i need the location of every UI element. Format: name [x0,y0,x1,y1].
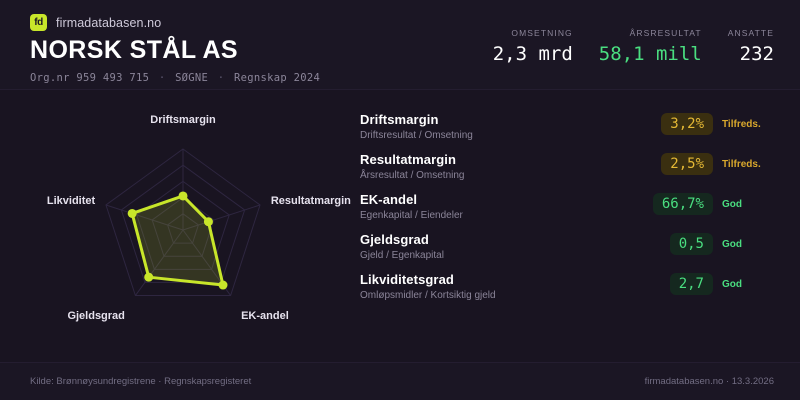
stat-arsresultat-value: 58,1 mill [599,43,702,65]
stat-ansatte: ANSATTE 232 [728,28,774,65]
metric-value-badge: 2,7 [670,273,713,295]
radar-chart: Driftsmargin Resultatmargin EK-andel Gje… [0,90,360,362]
metric-name: Driftsmargin [360,112,661,127]
status-badge: Tilfreds. [722,159,776,170]
body: Driftsmargin Resultatmargin EK-andel Gje… [0,90,800,362]
radar-axis-label-resultatmargin: Resultatmargin [271,195,351,207]
metrics-list: Driftsmargin Driftsresultat / Omsetning … [360,90,800,362]
radar-axis-label-gjeldsgrad: Gjeldsgrad [67,310,124,322]
metric-value-badge: 3,2% [661,113,713,135]
metric-name: Resultatmargin [360,152,661,167]
stat-omsetning: OMSETNING 2,3 mrd [493,28,573,65]
stat-ansatte-value: 232 [728,43,774,65]
company-place: SØGNE [175,72,208,84]
metric-row-gjeldsgrad: Gjeldsgrad Gjeld / Egenkapital 0,5 God [360,232,776,272]
metric-right: 66,7% God [653,193,776,215]
status-badge: God [722,279,776,290]
radar-axis-label-ek-andel: EK-andel [241,310,289,322]
stat-ansatte-label: ANSATTE [728,28,774,38]
metric-formula: Omløpsmidler / Kortsiktig gjeld [360,290,670,301]
radar-axis-label-driftsmargin: Driftsmargin [150,114,215,126]
status-badge: Tilfreds. [722,119,776,130]
org-number: Org.nr 959 493 715 [30,72,149,84]
radar-axis-label-likviditet: Likviditet [47,195,95,207]
company-summary-card: fd firmadatabasen.no NORSK STÅL AS Org.n… [0,0,800,400]
footer-source: Kilde: Brønnøysundregistrene · Regnskaps… [30,376,251,387]
status-badge: God [722,199,776,210]
metric-right: 2,7 God [670,273,776,295]
brand-row[interactable]: fd firmadatabasen.no [30,14,320,31]
metric-row-ek-andel: EK-andel Egenkapital / Eiendeler 66,7% G… [360,192,776,232]
stat-arsresultat-label: ÅRSRESULTAT [599,28,702,38]
metric-right: 2,5% Tilfreds. [661,153,776,175]
metric-value-badge: 0,5 [670,233,713,255]
footer: Kilde: Brønnøysundregistrene · Regnskaps… [0,362,800,400]
meta-separator-2: · [215,72,228,84]
metric-text: Resultatmargin Årsresultat / Omsetning [360,152,661,181]
accounting-year: Regnskap 2024 [234,72,320,84]
metric-formula: Årsresultat / Omsetning [360,170,661,181]
firmadatabasen-logo-icon: fd [30,14,47,31]
metric-formula: Driftsresultat / Omsetning [360,130,661,141]
metric-formula: Egenkapital / Eiendeler [360,210,653,221]
header-stats: OMSETNING 2,3 mrd ÅRSRESULTAT 58,1 mill … [493,14,774,65]
metric-row-likviditetsgrad: Likviditetsgrad Omløpsmidler / Kortsikti… [360,272,776,312]
company-meta: Org.nr 959 493 715 · SØGNE · Regnskap 20… [30,72,320,84]
metric-value-badge: 66,7% [653,193,713,215]
metric-right: 0,5 God [670,233,776,255]
metric-value-badge: 2,5% [661,153,713,175]
metric-name: EK-andel [360,192,653,207]
metric-formula: Gjeld / Egenkapital [360,250,670,261]
radar-chart-svg [0,90,360,362]
metric-row-resultatmargin: Resultatmargin Årsresultat / Omsetning 2… [360,152,776,192]
metric-right: 3,2% Tilfreds. [661,113,776,135]
metric-name: Gjeldsgrad [360,232,670,247]
stat-arsresultat: ÅRSRESULTAT 58,1 mill [599,28,702,65]
meta-separator-1: · [156,72,169,84]
footer-credit: firmadatabasen.no · 13.3.2026 [645,376,774,387]
status-badge: God [722,239,776,250]
page-title: NORSK STÅL AS [30,36,320,65]
metric-text: Gjeldsgrad Gjeld / Egenkapital [360,232,670,261]
brand-name: firmadatabasen.no [56,16,161,30]
metric-text: EK-andel Egenkapital / Eiendeler [360,192,653,221]
metric-text: Likviditetsgrad Omløpsmidler / Kortsikti… [360,272,670,301]
metric-row-driftsmargin: Driftsmargin Driftsresultat / Omsetning … [360,112,776,152]
radar-data-area [132,196,223,285]
header: fd firmadatabasen.no NORSK STÅL AS Org.n… [0,0,800,90]
metric-text: Driftsmargin Driftsresultat / Omsetning [360,112,661,141]
metric-name: Likviditetsgrad [360,272,670,287]
stat-omsetning-value: 2,3 mrd [493,43,573,65]
stat-omsetning-label: OMSETNING [493,28,573,38]
header-identity: fd firmadatabasen.no NORSK STÅL AS Org.n… [30,14,320,84]
